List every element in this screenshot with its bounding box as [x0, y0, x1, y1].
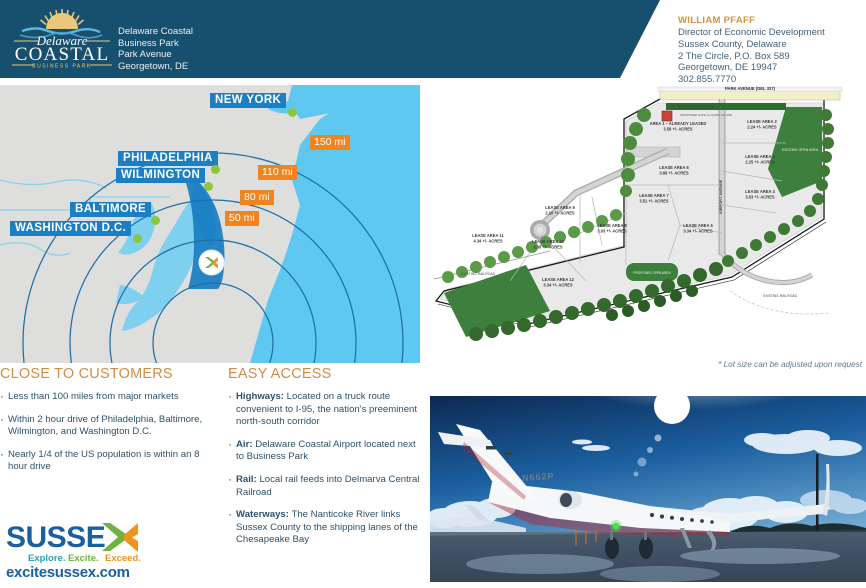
sussex-tagline-part-2: Excite. [68, 553, 99, 564]
list-item: Nearly 1/4 of the US population is withi… [0, 449, 215, 474]
lot-label-12: LEASE AREA 12 [542, 277, 574, 282]
address-line: Georgetown, DE [118, 61, 248, 73]
item-text: Delaware Coastal Airport located next to… [236, 439, 416, 463]
lot-acres-5: 3.34 +/- ACRES [683, 229, 713, 234]
city-label-philadelphia: PHILADELPHIA [118, 151, 218, 166]
street-label-airport-avenue: AIRPORT AVENUE [718, 179, 723, 214]
city-dot-new-york [288, 108, 297, 117]
ring-label-110mi: 110 mi [258, 165, 297, 180]
site-plan-graphic: AREA 1 – ALREADY LEASED 3.58 +/- ACRES L… [430, 85, 866, 353]
lot-label-4: LEASE AREA 4 [745, 189, 775, 194]
contact-name: WILLIAM PFAFF [678, 15, 858, 26]
city-dot-wilmington [204, 182, 213, 191]
lot-label-7: LEASE AREA 7 [639, 193, 669, 198]
excite-sussex-logo[interactable]: SUSSE Explore. Excite. Exceed. excitesus… [6, 515, 156, 581]
address-line: Park Avenue [118, 49, 248, 61]
sussex-url: excitesussex.com [6, 564, 130, 581]
item-text: Local rail feeds into Delmarva Central R… [236, 474, 419, 498]
note-existing-park-area: EXISTING PARK AREA [678, 106, 714, 110]
rail-label-right: EXISTING RAILROAD [763, 294, 798, 298]
delaware-coastal-business-park-logo: Delaware COASTAL BUSINESS PARK [8, 6, 116, 70]
airport-photo: N662P [430, 396, 866, 582]
header-address-block: Delaware Coastal Business Park Park Aven… [118, 26, 248, 72]
lot-label-8: LEASE AREA 8 [597, 223, 627, 228]
lot-label-9: LEASE AREA 9 [545, 205, 575, 210]
item-label: Rail: [236, 474, 257, 485]
lot-acres-3: 2.25 +/- ACRES [745, 160, 775, 165]
list-item: Waterways: The Nanticoke River links Sus… [228, 509, 423, 547]
ring-label-150mi: 150 mi [310, 135, 350, 150]
lot-acres-11: 4.34 +/- ACRES [473, 239, 503, 244]
list-item: Air: Delaware Coastal Airport located ne… [228, 439, 423, 464]
lot-label-3: LEASE AREA 3 [745, 154, 775, 159]
lot-label-6: LEASE AREA 6 [659, 165, 689, 170]
lot-label-5: LEASE AREA 5 [683, 223, 713, 228]
contact-org: Sussex County, Delaware [678, 39, 858, 51]
sussex-x-marker [200, 251, 223, 274]
close-to-customers-section: CLOSE TO CUSTOMERS Less than 100 miles f… [0, 366, 215, 484]
lot-acres-12: 3.34 +/- ACRES [543, 283, 573, 288]
address-line: Business Park [118, 38, 248, 50]
lot-acres-7: 3.51 +/- ACRES [639, 199, 669, 204]
marketing-flyer-page: Delaware COASTAL BUSINESS PARK Delaware … [0, 0, 866, 588]
sussex-wordmark: SUSSE [6, 521, 105, 554]
note-proposed-open-area: PROPOSED OPEN AREA [633, 271, 671, 275]
city-label-baltimore: BALTIMORE [70, 202, 151, 217]
contact-title: Director of Economic Development [678, 27, 858, 39]
item-label: Air: [236, 439, 253, 450]
contact-street: 2 The Circle, P.O. Box 589 [678, 51, 858, 63]
city-label-washington-dc: WASHINGTON D.C. [10, 221, 131, 236]
drive-time-radius-map: NEW YORK PHILADELPHIA WILMINGTON BALTIMO… [0, 85, 420, 363]
list-item: Highways: Located on a truck route conve… [228, 391, 423, 429]
address-line: Delaware Coastal [118, 26, 248, 38]
lot-acres-2: 2.24 +/- ACRES [747, 125, 777, 130]
easy-access-heading: EASY ACCESS [228, 366, 423, 382]
list-item: Less than 100 miles from major markets [0, 391, 215, 404]
list-item: Within 2 hour drive of Philadelphia, Bal… [0, 414, 215, 439]
airport-photo-graphic [430, 396, 866, 582]
business-park-site-plan: AREA 1 – ALREADY LEASED 3.58 +/- ACRES L… [430, 85, 866, 353]
easy-access-section: EASY ACCESS Highways: Located on a truck… [228, 366, 423, 557]
sussex-tagline-part-1: Explore. [28, 553, 66, 564]
page-header: Delaware COASTAL BUSINESS PARK Delaware … [0, 0, 866, 78]
lot-label-10: LEASE AREA 10 [532, 239, 564, 244]
note-guard-house: PROPOSED GATE & GUARD HOUSE [680, 113, 732, 117]
easy-access-list: Highways: Located on a truck route conve… [228, 391, 423, 547]
lot-acres-8: 3.03 +/- ACRES [597, 229, 627, 234]
logo-main-word: COASTAL [15, 44, 110, 65]
rail-label-left: EXISTING RAILROAD [461, 272, 496, 276]
lot-label-11: LEASE AREA 11 [472, 233, 504, 238]
sussex-tagline-part-3: Exceed. [105, 553, 141, 564]
close-to-customers-heading: CLOSE TO CUSTOMERS [0, 366, 215, 382]
lot-acres-4: 3.03 +/- ACRES [745, 195, 775, 200]
note-existing-open-area: EXISTING OPEN AREA [782, 148, 819, 152]
lot-size-footnote: * Lot size can be adjusted upon request [690, 360, 862, 371]
close-to-customers-list: Less than 100 miles from major markets W… [0, 391, 215, 474]
lot-acres-10: 3.39 +/- ACRES [533, 245, 563, 250]
city-label-new-york: NEW YORK [210, 93, 286, 108]
lot-acres-1: 3.58 +/- ACRES [663, 127, 693, 132]
ring-label-50mi: 50 mi [225, 211, 259, 226]
item-label: Waterways: [236, 509, 289, 520]
contact-block: WILLIAM PFAFF Director of Economic Devel… [678, 15, 858, 86]
city-label-wilmington: WILMINGTON [116, 168, 205, 183]
list-item: Rail: Local rail feeds into Delmarva Cen… [228, 474, 423, 499]
lot-label-2: LEASE AREA 2 [747, 119, 777, 124]
city-dot-baltimore [151, 216, 160, 225]
lot-label-1: AREA 1 – ALREADY LEASED [650, 121, 707, 126]
city-dot-washington-dc [133, 234, 142, 243]
ring-label-80mi: 80 mi [240, 190, 274, 205]
street-label-park-avenue: PARK AVENUE (DEL 327) [725, 86, 776, 91]
lot-acres-6: 3.68 +/- ACRES [659, 171, 689, 176]
city-dot-philadelphia [211, 165, 220, 174]
logo-sub-word: BUSINESS PARK [32, 64, 91, 70]
contact-city: Georgetown, DE 19947 [678, 62, 858, 74]
item-label: Highways: [236, 391, 284, 402]
lot-acres-9: 2.10 +/- ACRES [545, 211, 575, 216]
